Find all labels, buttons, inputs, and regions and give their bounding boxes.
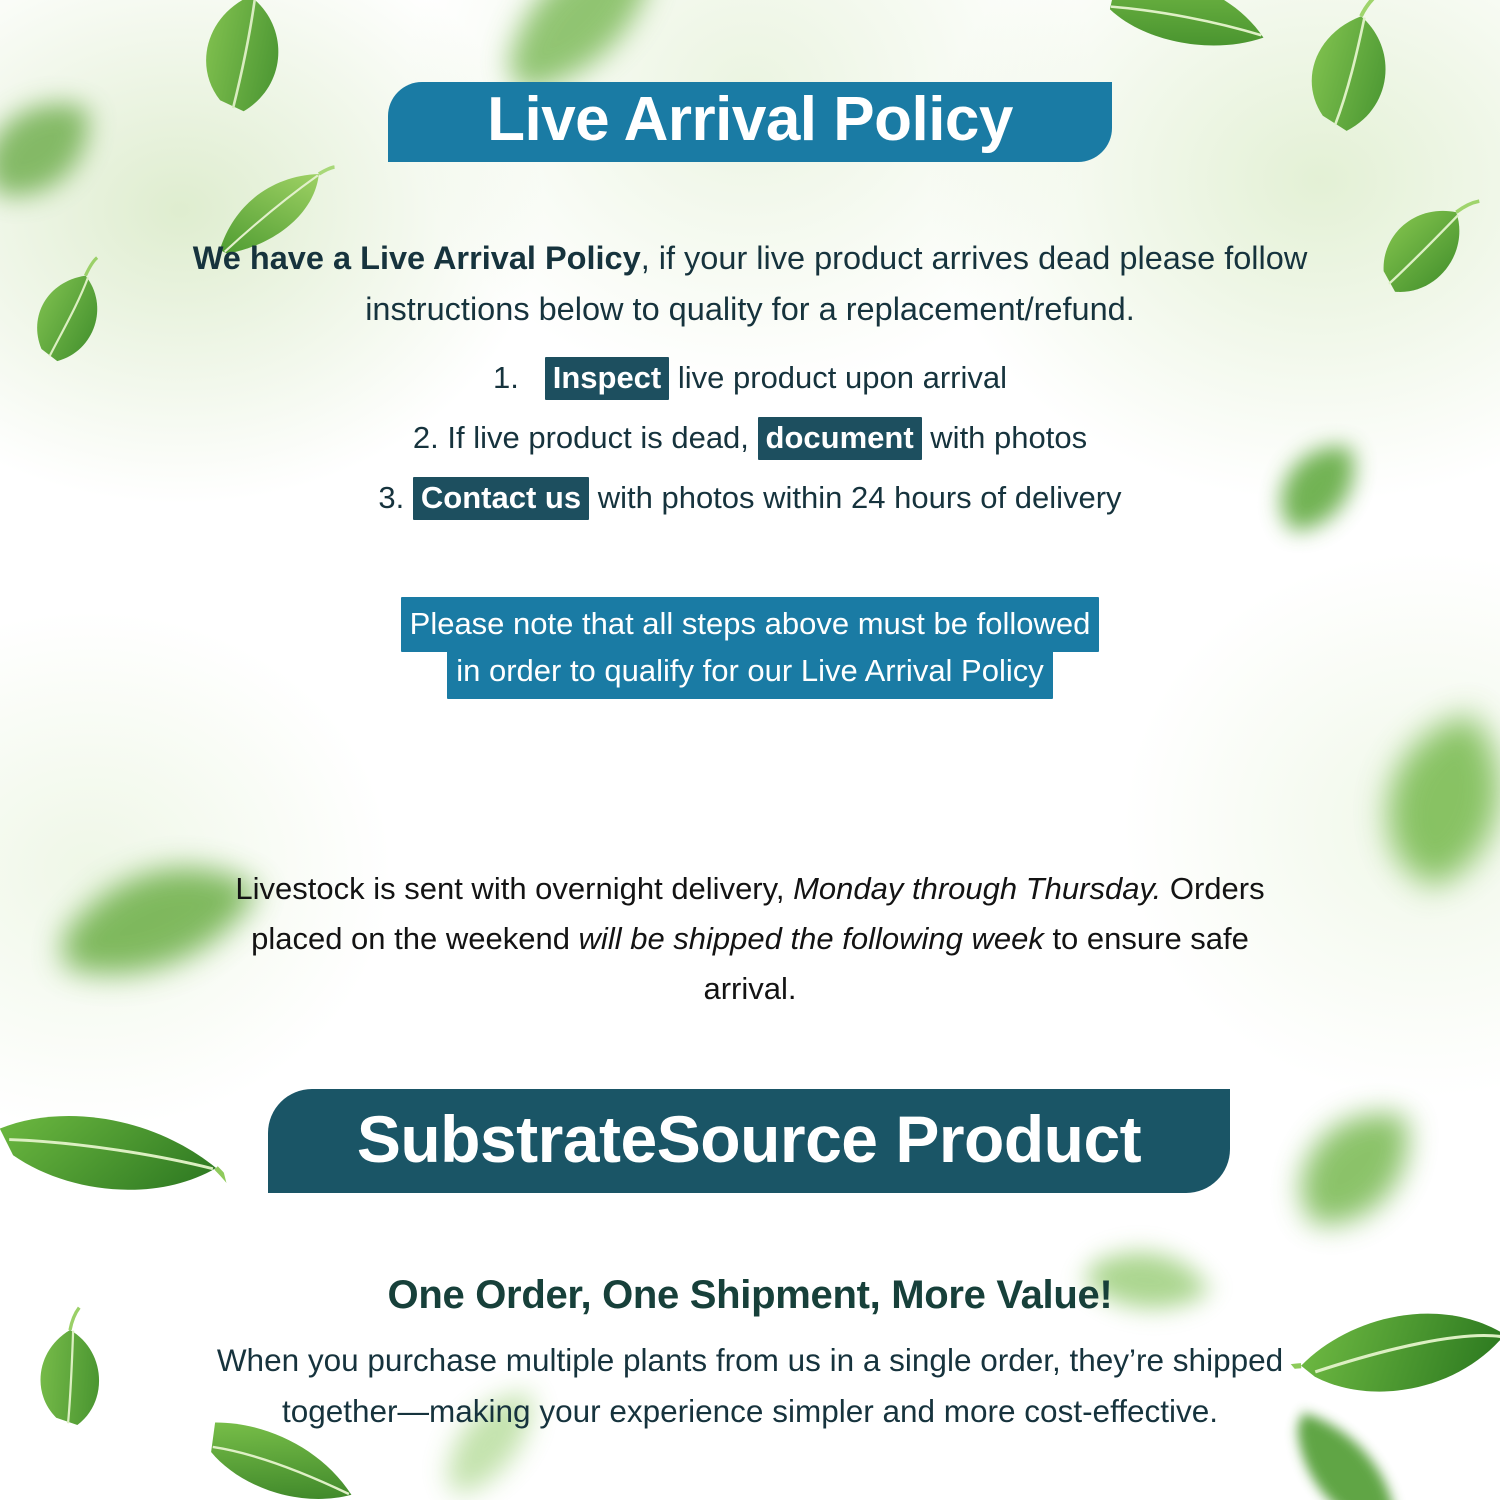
note-line-wrapper: Please note that all steps above must be… [170,608,1330,639]
step-item: 2. If live product is dead, document wit… [170,422,1330,453]
infographic-page: Live Arrival Policy We have a Live Arriv… [0,0,1500,1500]
note-line-2: in order to qualify for our Live Arrival… [447,644,1053,699]
livestock-shipping-paragraph: Livestock is sent with overnight deliver… [230,864,1270,1015]
policy-note-block: Please note that all steps above must be… [170,608,1330,702]
substratesource-product-title: SubstrateSource Product [357,1106,1141,1172]
step-number: 1. [493,360,519,395]
step-item: 1. Inspect live product upon arrival [170,362,1330,393]
step-highlight-document: document [758,417,922,460]
product-body-paragraph: When you purchase multiple plants from u… [180,1335,1320,1437]
livestock-italic-2: will be shipped the following week [579,921,1044,956]
step-before-text: If live product is dead, [447,420,749,455]
live-arrival-policy-banner: Live Arrival Policy [388,82,1112,162]
livestock-part-1: Livestock is sent with overnight deliver… [235,871,793,906]
product-subheading: One Order, One Shipment, More Value! [200,1275,1300,1315]
substratesource-product-banner: SubstrateSource Product [268,1089,1230,1193]
step-highlight-contact-us: Contact us [413,477,589,520]
intro-bold-lead: We have a Live Arrival Policy [193,240,641,276]
step-number: 3. [378,480,404,515]
note-line-wrapper: in order to qualify for our Live Arrival… [170,655,1330,686]
step-after-text: live product upon arrival [678,360,1007,395]
step-item: 3. Contact us with photos within 24 hour… [170,482,1330,513]
step-after-text: with photos within 24 hours of delivery [598,480,1122,515]
steps-list: 1. Inspect live product upon arrival 2. … [170,362,1330,542]
step-number: 2. [413,420,439,455]
intro-paragraph: We have a Live Arrival Policy, if your l… [180,233,1320,336]
live-arrival-policy-title: Live Arrival Policy [487,89,1013,151]
content-layer: Live Arrival Policy We have a Live Arriv… [0,0,1500,1500]
step-after-text: with photos [930,420,1087,455]
livestock-italic-1: Monday through Thursday. [793,871,1161,906]
step-highlight-inspect: Inspect [545,357,670,400]
